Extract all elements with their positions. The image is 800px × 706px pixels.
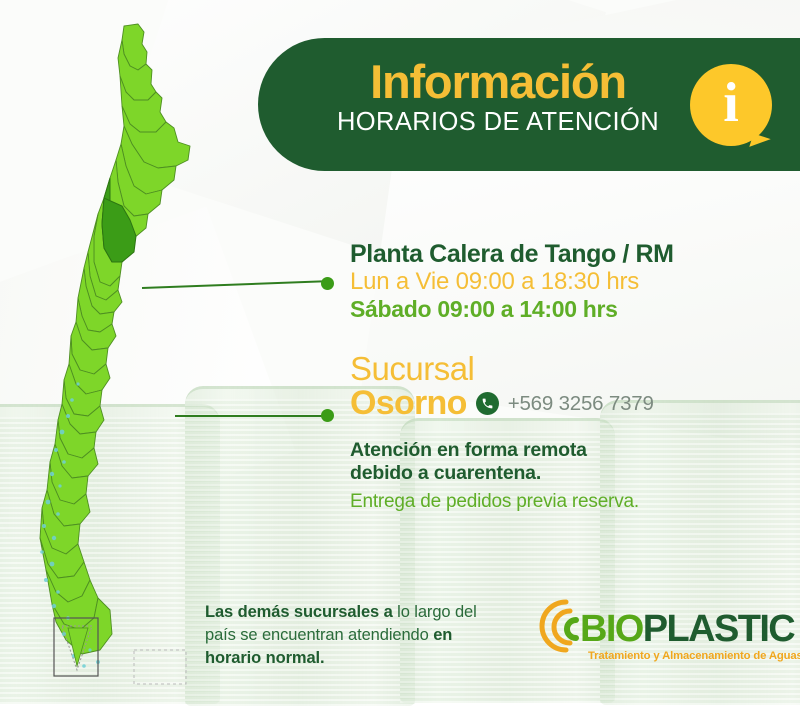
chile-map (38, 14, 238, 686)
notice-line-2: debido a cuarentena. (350, 462, 780, 486)
location-sucursal-osorno: Sucursal Osorno +569 3256 7379 Atención … (350, 352, 780, 515)
osorno-contact-row: Osorno +569 3256 7379 (350, 386, 780, 422)
footer-note-bold-1: Las demás sucursales a (205, 603, 393, 621)
header-banner: Información HORARIOS DE ATENCIÓN i (258, 38, 800, 171)
page-subtitle: HORARIOS DE ATENCIÓN (328, 108, 668, 137)
planta-hours-weekday: Lun a Vie 09:00 a 18:30 hrs (350, 268, 780, 296)
planta-name: Planta Calera de Tango / RM (350, 240, 780, 268)
sucursal-label: Sucursal (350, 352, 780, 385)
banner-text-group: Información HORARIOS DE ATENCIÓN (328, 58, 668, 137)
footer-note: Las demás sucursales a lo largo del país… (205, 601, 505, 669)
planta-hours-saturday: Sábado 09:00 a 14:00 hrs (350, 296, 780, 324)
logo-tagline: Tratamiento y Almacenamiento de Aguas (588, 650, 800, 662)
notice-line-1: Atención en forma remota (350, 439, 780, 463)
osorno-city-name: Osorno (350, 386, 467, 422)
bioplastic-logo: BIOPLASTIC Tratamiento y Almacenamiento … (536, 596, 766, 668)
logo-word-plastic: PLASTIC (643, 608, 794, 650)
notice-line-3: Entrega de pedidos previa reserva. (350, 490, 780, 515)
location-planta-calera-de-tango: Planta Calera de Tango / RM Lun a Vie 09… (350, 240, 780, 324)
info-bubble-icon: i (690, 64, 772, 146)
logo-word-bio: BIO (580, 608, 643, 650)
osorno-phone-number[interactable]: +569 3256 7379 (508, 392, 654, 416)
page-title: Información (328, 58, 668, 106)
info-icon-glyph: i (690, 64, 772, 146)
osorno-notice: Atención en forma remota debido a cuaren… (350, 439, 780, 515)
phone-icon (476, 392, 499, 415)
locations-panel: Planta Calera de Tango / RM Lun a Vie 09… (350, 240, 780, 515)
logo-wordmark: BIOPLASTIC (580, 610, 794, 648)
